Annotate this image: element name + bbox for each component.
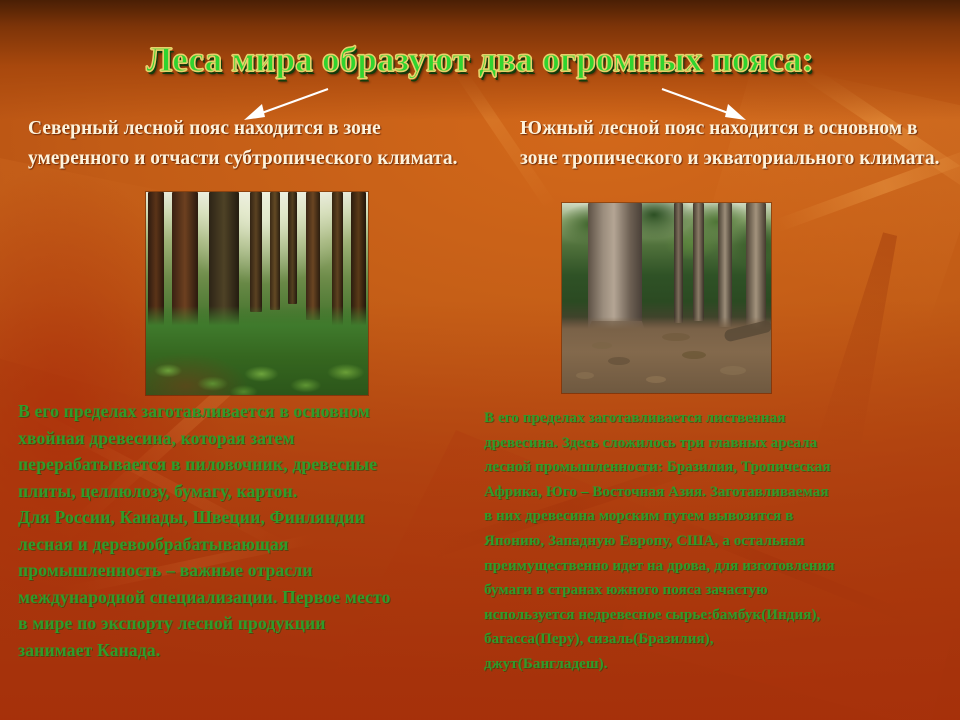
leaf-litter-detail (682, 351, 706, 359)
tree-trunk (270, 192, 280, 310)
southern-forest-photo (562, 203, 771, 393)
tree-trunk (250, 192, 262, 312)
leaf-litter-detail (720, 366, 746, 375)
left-body-text: В его пределах заготавливается в основно… (18, 398, 488, 663)
right-heading: Южный лесной пояс находится в основном в… (520, 114, 940, 174)
tree-trunk (674, 203, 683, 323)
fern-undergrowth (146, 314, 368, 395)
tree-trunk (306, 192, 320, 320)
slide-title: Леса мира образуют два огромных пояса: (0, 40, 960, 80)
leaf-litter-detail (576, 372, 594, 379)
tree-trunk (288, 192, 297, 304)
southern-forest-photo-canvas (562, 203, 771, 393)
leaf-litter-detail (608, 357, 630, 365)
leaf-litter-detail (646, 376, 666, 383)
northern-forest-photo (146, 192, 368, 395)
tree-trunk (693, 203, 704, 321)
left-heading: Северный лесной пояс находится в зоне ум… (28, 114, 483, 174)
leaf-litter-detail (662, 333, 690, 341)
right-body-text: В его пределах заготавливается лиственна… (484, 406, 954, 677)
northern-forest-photo-canvas (146, 192, 368, 395)
large-tree-trunk (588, 203, 642, 331)
presentation-slide: Леса мира образуют два огромных пояса: С… (0, 0, 960, 720)
leaf-litter-detail (592, 342, 612, 349)
tree-trunk (718, 203, 732, 327)
